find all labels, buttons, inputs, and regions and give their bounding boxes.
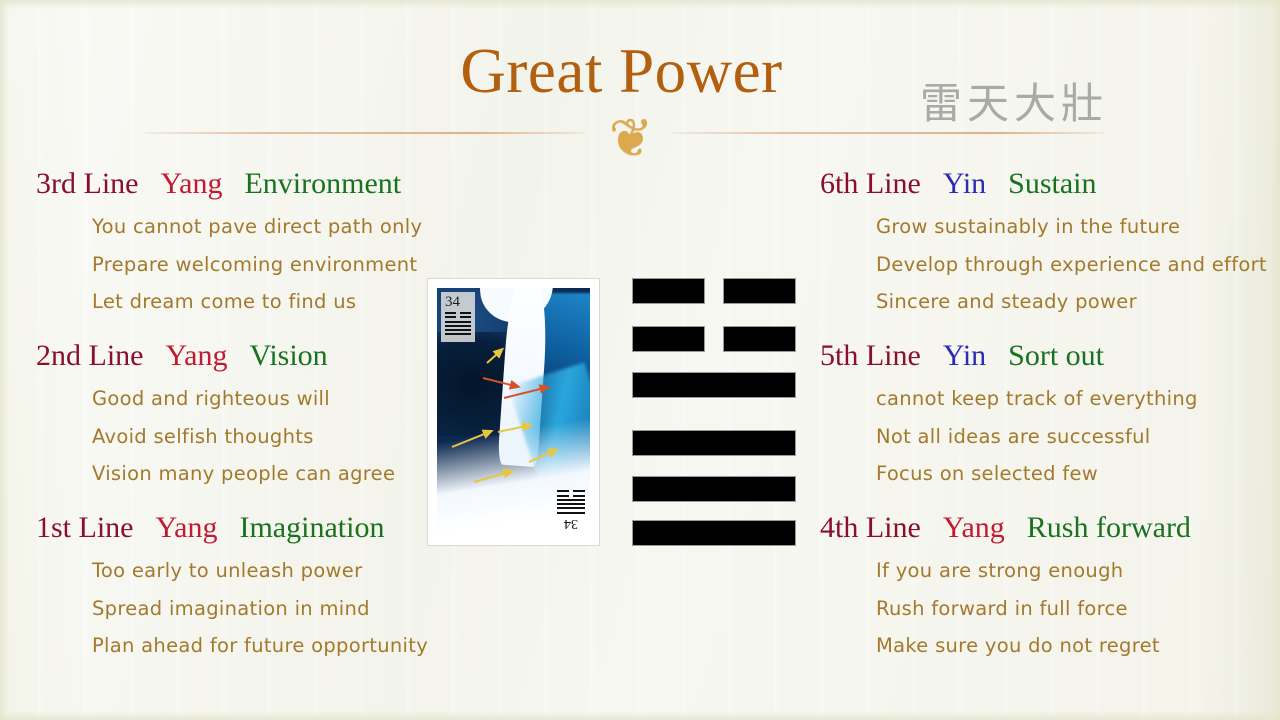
mini-hexagram-bar (445, 325, 471, 327)
topic-label: Sustain (1008, 167, 1096, 200)
divider-rule-right (672, 132, 1105, 134)
line-number-label: 3rd Line (36, 167, 138, 200)
bullet-item: Not all ideas are successful (876, 418, 1260, 456)
hexagram-line-yang (632, 520, 796, 546)
mini-hexagram-line-yang (557, 499, 585, 501)
topic-label: Environment (244, 167, 401, 200)
polarity-label: Yang (156, 511, 218, 544)
mini-hexagram-line-yang (557, 507, 585, 509)
mini-hexagram-line-yang (557, 512, 585, 514)
header-divider: ❦ (0, 118, 1280, 162)
mini-hexagram-line-yin (445, 316, 471, 318)
bullet-item: Plan ahead for future opportunity (92, 627, 436, 665)
mini-hexagram-line-yang (445, 329, 471, 331)
hexagram-bar (632, 326, 705, 352)
line-heading: 4th LineYangRush forward (820, 504, 1260, 552)
mini-hexagram-bar (557, 512, 585, 514)
bullet-item: Develop through experience and effort (876, 246, 1260, 284)
hexagram-line-yang (632, 476, 796, 502)
card-number-badge: 34 (441, 292, 475, 342)
bullet-item: Rush forward in full force (876, 590, 1260, 628)
bullet-item: You cannot pave direct path only (92, 208, 436, 246)
bullet-item: cannot keep track of everything (876, 380, 1260, 418)
slide-canvas: Great Power 雷天大壯 ❦ 3rd LineYangEnvironme… (0, 0, 1280, 720)
bullet-list: Too early to unleash powerSpread imagina… (36, 552, 436, 665)
line-heading: 6th LineYinSustain (820, 160, 1260, 208)
topic-label: Imagination (239, 511, 384, 544)
bullet-item: Prepare welcoming environment (92, 246, 436, 284)
hexagram-bar (632, 476, 796, 502)
bullet-item: Focus on selected few (876, 455, 1260, 493)
polarity-label: Yin (943, 339, 986, 372)
bullet-item: Spread imagination in mind (92, 590, 436, 628)
line-number-label: 5th Line (820, 339, 921, 372)
mini-hexagram-line-yang (445, 325, 471, 327)
mini-hexagram-bar (557, 503, 585, 505)
mini-hexagram-bar (557, 507, 585, 509)
hexagram-line-yang (632, 430, 796, 456)
mini-hexagram-bar (460, 312, 471, 314)
flourish-ornament-icon: ❦ (576, 107, 686, 171)
mini-hexagram-line-yin (557, 495, 585, 497)
line-heading: 2nd LineYangVision (36, 332, 436, 380)
mini-hexagram-line-yang (445, 333, 471, 335)
bullet-item: Make sure you do not regret (876, 627, 1260, 665)
topic-label: Rush forward (1027, 511, 1191, 544)
bullet-item: Good and righteous will (92, 380, 436, 418)
bullet-item: Let dream come to find us (92, 283, 436, 321)
card-corner-mark: 34 (557, 488, 585, 531)
slide-header: Great Power 雷天大壯 ❦ (0, 0, 1280, 160)
bullet-item: Grow sustainably in the future (876, 208, 1260, 246)
card-artwork: 34 34 (437, 288, 590, 535)
topic-label: Vision (249, 339, 327, 372)
hexagram-gap (705, 326, 723, 352)
mini-hexagram-bar (557, 495, 569, 497)
mini-hexagram-bar (445, 321, 471, 323)
mini-hexagram-line-yang (445, 321, 471, 323)
card-corner-number: 34 (557, 516, 585, 531)
line-block: 3rd LineYangEnvironmentYou cannot pave d… (36, 160, 436, 321)
bullet-item: Vision many people can agree (92, 455, 436, 493)
mini-hexagram-line-yang (557, 503, 585, 505)
line-number-label: 2nd Line (36, 339, 143, 372)
mini-hexagram-line-yin (445, 312, 471, 314)
line-block: 6th LineYinSustainGrow sustainably in th… (820, 160, 1260, 321)
line-number-label: 1st Line (36, 511, 134, 544)
topic-label: Sort out (1008, 339, 1104, 372)
bullet-item: If you are strong enough (876, 552, 1260, 590)
mini-hexagram-bar (460, 316, 471, 318)
line-number-label: 4th Line (820, 511, 921, 544)
mini-hexagram-bar (573, 495, 585, 497)
line-block: 4th LineYangRush forwardIf you are stron… (820, 504, 1260, 665)
mini-hexagram-bar (573, 490, 585, 492)
hexagram-bar (632, 372, 796, 398)
bullet-list: You cannot pave direct path onlyPrepare … (36, 208, 436, 321)
polarity-label: Yang (165, 339, 227, 372)
hexagram-bar (632, 520, 796, 546)
line-heading: 3rd LineYangEnvironment (36, 160, 436, 208)
bullet-item: Avoid selfish thoughts (92, 418, 436, 456)
hexagram-bar (723, 326, 796, 352)
hexagram-bar (632, 278, 705, 304)
hexagram-bar (632, 430, 796, 456)
hexagram-gap (705, 278, 723, 304)
mini-hexagram-bar (445, 312, 456, 314)
mini-hexagram-bar (445, 333, 471, 335)
hexagram-card-image: 34 34 (427, 278, 600, 546)
hexagram-line-yin (632, 278, 796, 304)
polarity-label: Yang (943, 511, 1005, 544)
line-heading: 5th LineYinSort out (820, 332, 1260, 380)
bullet-list: If you are strong enoughRush forward in … (820, 552, 1260, 665)
bullet-list: Grow sustainably in the futureDevelop th… (820, 208, 1260, 321)
polarity-label: Yin (943, 167, 986, 200)
hexagram-line-yang (632, 372, 796, 398)
divider-rule-left (145, 132, 585, 134)
bullet-item: Sincere and steady power (876, 283, 1260, 321)
mini-hexagram-line-yin (557, 490, 585, 492)
mini-hexagram-bar (557, 499, 585, 501)
hexagram-line-yin (632, 326, 796, 352)
line-block: 2nd LineYangVisionGood and righteous wil… (36, 332, 436, 493)
card-mini-hexagram (445, 312, 471, 335)
mini-hexagram-bar (557, 490, 569, 492)
hexagram-diagram (632, 278, 796, 546)
bullet-list: cannot keep track of everythingNot all i… (820, 380, 1260, 493)
line-heading: 1st LineYangImagination (36, 504, 436, 552)
bullet-item: Too early to unleash power (92, 552, 436, 590)
card-corner-hexagram (557, 490, 585, 513)
line-number-label: 6th Line (820, 167, 921, 200)
line-block: 1st LineYangImaginationToo early to unle… (36, 504, 436, 665)
line-block: 5th LineYinSort outcannot keep track of … (820, 332, 1260, 493)
polarity-label: Yang (160, 167, 222, 200)
card-number: 34 (445, 294, 471, 310)
hexagram-bar (723, 278, 796, 304)
mini-hexagram-bar (445, 316, 456, 318)
bullet-list: Good and righteous willAvoid selfish tho… (36, 380, 436, 493)
mini-hexagram-bar (445, 329, 471, 331)
